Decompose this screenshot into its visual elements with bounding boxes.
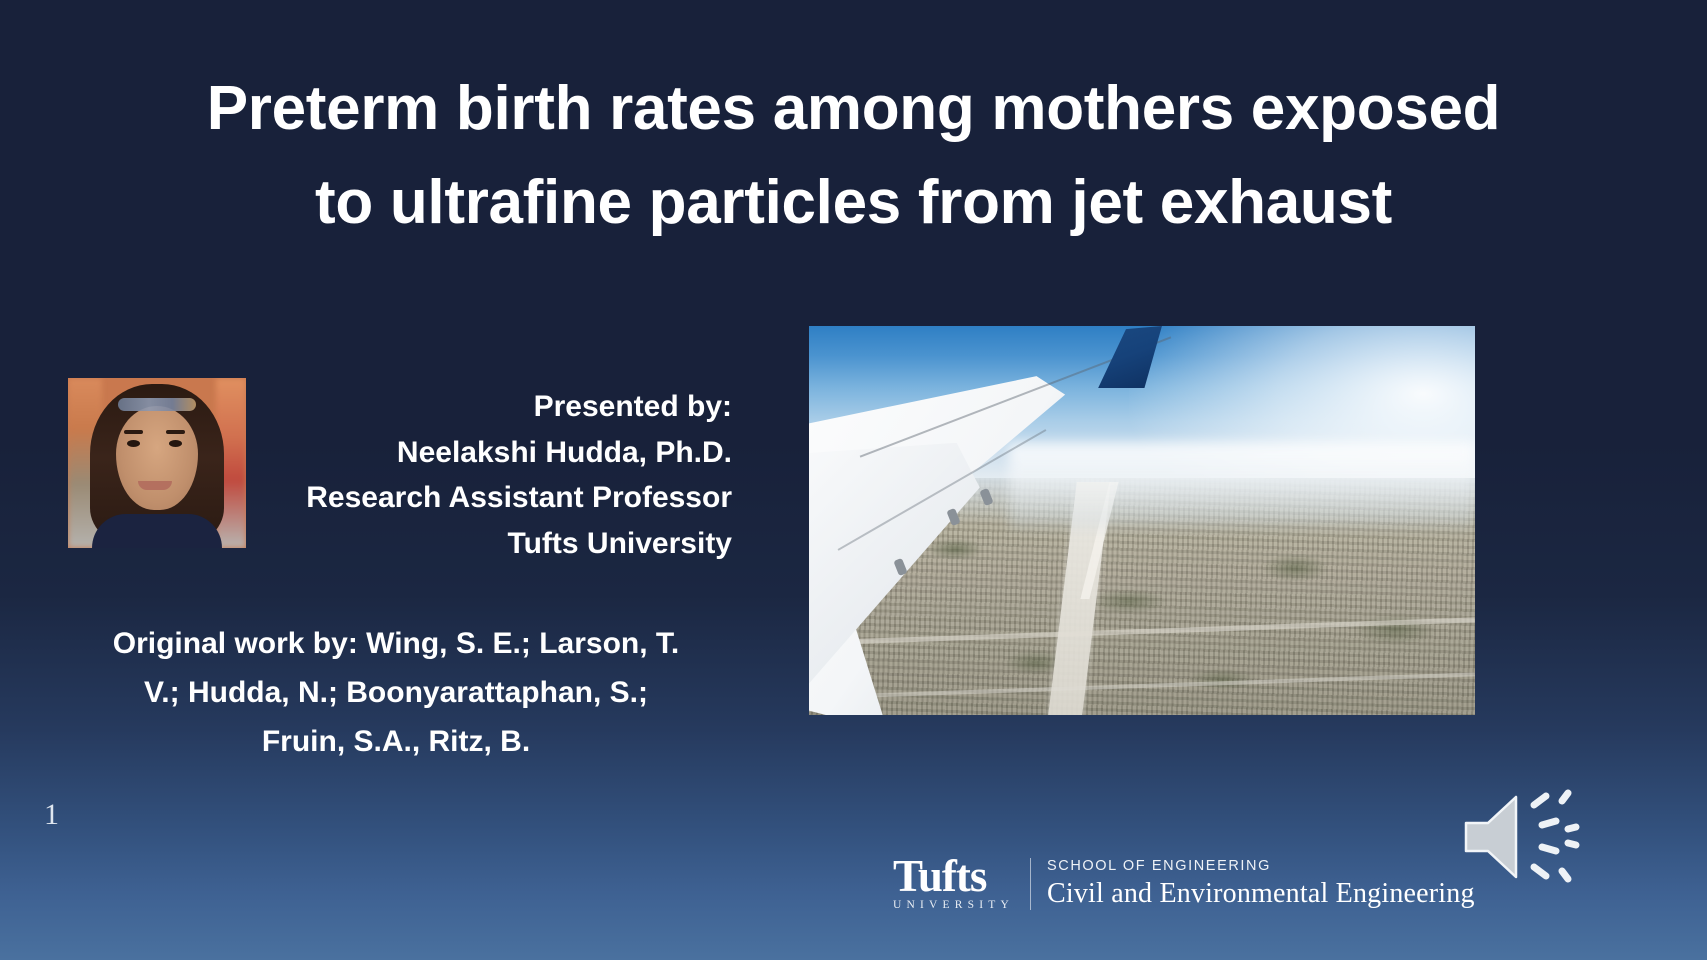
title-line-1: Preterm birth rates among mothers expose… <box>40 62 1667 156</box>
credits-block: Original work by: Wing, S. E.; Larson, T… <box>58 620 734 767</box>
slide-number: 1 <box>44 798 59 832</box>
presenter-name: Neelakshi Hudda, Ph.D. <box>180 430 732 476</box>
title-line-2: to ultrafine particles from jet exhaust <box>40 156 1667 250</box>
tufts-logo: Tufts UNIVERSITY SCHOOL OF ENGINEERING C… <box>893 856 1475 911</box>
headshot-brow-left <box>124 430 143 434</box>
logo-school-name: SCHOOL OF ENGINEERING <box>1047 858 1475 874</box>
tufts-university-label: UNIVERSITY <box>893 899 1014 911</box>
photo-haze-layer <box>1009 443 1475 529</box>
presentation-slide: Preterm birth rates among mothers expose… <box>0 0 1707 960</box>
tufts-wordmark: Tufts <box>893 856 1014 897</box>
presenter-block: Presented by: Neelakshi Hudda, Ph.D. Res… <box>180 384 732 566</box>
logo-divider <box>1030 858 1031 910</box>
credits-line-2: V.; Hudda, N.; Boonyarattaphan, S.; <box>58 669 734 718</box>
tufts-wordmark-group: Tufts UNIVERSITY <box>893 856 1014 911</box>
presenter-role: Research Assistant Professor <box>180 475 732 521</box>
headshot-eye-left <box>127 440 140 447</box>
headshot-mouth <box>138 481 172 490</box>
logo-text-group: SCHOOL OF ENGINEERING Civil and Environm… <box>1047 858 1475 910</box>
credits-line-3: Fruin, S.A., Ritz, B. <box>58 718 734 767</box>
speaker-audio-icon[interactable] <box>1458 785 1582 889</box>
credits-line-1: Original work by: Wing, S. E.; Larson, T… <box>58 620 734 669</box>
presenter-affiliation: Tufts University <box>180 521 732 567</box>
logo-department-name: Civil and Environmental Engineering <box>1047 878 1475 910</box>
presented-by-label: Presented by: <box>180 384 732 430</box>
aerial-photo <box>809 326 1475 715</box>
page-title: Preterm birth rates among mothers expose… <box>40 62 1667 250</box>
